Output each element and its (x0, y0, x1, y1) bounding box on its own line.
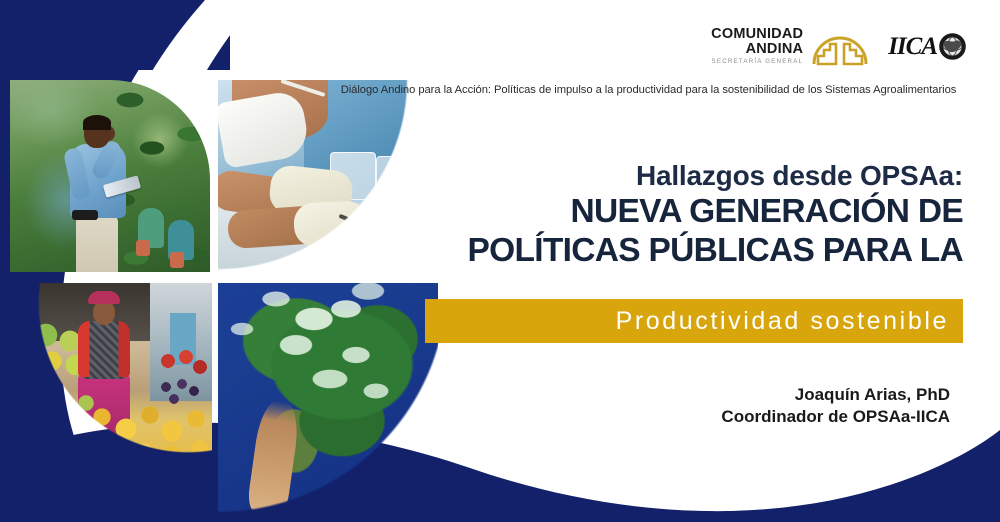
iica-logo: IICA (888, 33, 966, 60)
photo-market-vendor (28, 283, 212, 463)
harvest-bucket (136, 240, 150, 256)
farmer-legs (76, 214, 118, 272)
photo-market-backdrop (28, 283, 212, 463)
photo-farmer-backdrop (10, 80, 210, 272)
title-main: NUEVA GENERACIÓN DE POLÍTICAS PÚBLICAS P… (343, 193, 963, 269)
iica-wordmark: IICA (888, 34, 937, 59)
presenter-name: Joaquín Arias, PhD (480, 384, 950, 406)
presentation-slide: COMUNIDAD ANDINA SECRETARÍA GENERAL IICA (0, 0, 1000, 522)
gold-highlight-band: Productividad sostenible (425, 299, 963, 343)
photo-satellite-south-america (218, 283, 438, 522)
harvest-bucket (170, 252, 184, 268)
comunidad-andina-logo: COMUNIDAD ANDINA SECRETARÍA GENERAL (711, 26, 868, 66)
andean-arch-emblem-icon (812, 26, 868, 66)
gold-band-text: Productividad sostenible (616, 307, 963, 336)
globe-emblem-icon (939, 33, 966, 60)
presenter-role: Coordinador de OPSAa-IICA (480, 406, 950, 428)
farmer-hair (83, 115, 111, 130)
can-line-3: SECRETARÍA GENERAL (711, 59, 803, 65)
photo-farmer-with-phone (10, 80, 210, 272)
logo-bar: COMUNIDAD ANDINA SECRETARÍA GENERAL IICA (711, 26, 966, 66)
vendor-hat (88, 291, 120, 304)
title-kicker: Hallazgos desde OPSAa: (343, 160, 963, 191)
event-subtitle: Diálogo Andino para la Acción: Políticas… (336, 84, 961, 96)
presenter-credit: Joaquín Arias, PhD Coordinador de OPSAa-… (480, 384, 950, 429)
fruit-pile (60, 393, 212, 463)
vendor-vest (78, 321, 130, 377)
cloud-cover (218, 283, 438, 522)
title-block: Hallazgos desde OPSAa: NUEVA GENERACIÓN … (343, 160, 963, 270)
farmer-figure (62, 118, 134, 272)
title-line-2: POLÍTICAS PÚBLICAS PARA LA (343, 232, 963, 270)
comunidad-andina-wordmark: COMUNIDAD ANDINA SECRETARÍA GENERAL (711, 27, 803, 66)
face-mask (218, 89, 311, 169)
title-line-1: NUEVA GENERACIÓN DE (571, 193, 963, 230)
farmer-belt (72, 210, 98, 220)
can-line-1: COMUNIDAD (711, 27, 803, 42)
photo-earth-backdrop (218, 283, 438, 522)
can-line-2: ANDINA (711, 42, 803, 57)
